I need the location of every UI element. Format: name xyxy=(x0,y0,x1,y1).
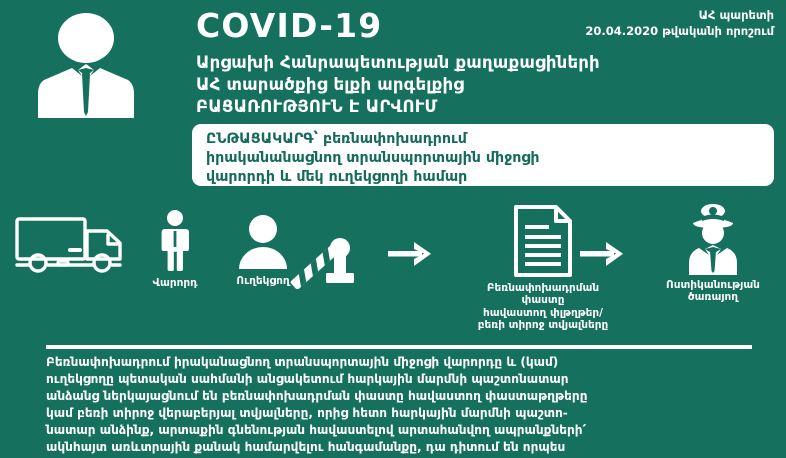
decree-date: ԱՀ պարետի 20.04.2020 թվականի որոշում xyxy=(585,8,774,39)
person-bust-icon xyxy=(235,213,291,269)
businessman-avatar-icon xyxy=(22,8,150,118)
document-label-line-1: Բեռնափոխադրման xyxy=(440,282,646,294)
process-flow-row: Վարորդ Ուղեկցող xyxy=(0,195,786,340)
footer-line-2: ուղեկցողը պետական սահմանի անցակետում հար… xyxy=(46,371,758,388)
police-label-line-1: Ոստիկանության xyxy=(640,279,786,291)
driver-flow-item: Վարորդ xyxy=(140,209,210,289)
footer-line-4: կամ բեռի տիրոջ վերաբերյալ տվյալները, որի… xyxy=(46,405,758,422)
decree-date-line1: ԱՀ պարետի xyxy=(585,8,774,24)
document-label-line-2: փաստը xyxy=(440,294,646,306)
infographic-poster: COVID-19 ԱՀ պարետի 20.04.2020 թվականի որ… xyxy=(0,0,786,458)
headline-line-2: ԱՀ տարածքից ելքի արգելքից xyxy=(196,74,776,96)
horizontal-divider xyxy=(46,345,752,349)
document-label-line-3: հավաստող փլթղթեր/ xyxy=(440,307,646,319)
footer-paragraph: Բեռնափոխադրում իրականացնող տրանսպորտային… xyxy=(46,354,758,458)
callout-line-3: վարորդի և մեկ ուղեկցողի համար xyxy=(206,168,760,187)
footer-line-5: նատար անձինք, արտաքին գնենության հավաստե… xyxy=(46,422,758,439)
header-section: COVID-19 ԱՀ պարետի 20.04.2020 թվականի որ… xyxy=(0,0,786,118)
boom-barrier-icon xyxy=(288,197,362,289)
police-officer-icon xyxy=(677,203,749,275)
decree-date-line2: 20.04.2020 թվականի որոշում xyxy=(585,24,774,40)
flow-arrow-2 xyxy=(580,241,624,267)
police-flow-item: Ոստիկանության ծառայող xyxy=(640,203,786,304)
arrow-right-icon xyxy=(388,241,432,267)
headline: Արցախի Հանրապետության քաղաքացիների ԱՀ տա… xyxy=(196,52,776,117)
document-icon xyxy=(512,205,574,277)
document-label-line-4: բեռի տիրոջ տվյալները xyxy=(440,319,646,331)
page-title: COVID-19 xyxy=(196,6,382,45)
footer-line-6: ակնհայտ առևտրային քանակ համարվելու հանգա… xyxy=(46,439,758,456)
callout-line-1: ԸՆԹԱՑԱԿԱՐԳ՝ բեռնափոխադրում xyxy=(206,130,760,149)
footer-line-1: Բեռնափոխադրում իրականացնող տրանսպորտային… xyxy=(46,354,758,371)
callout-line-2: իրականանացնող տրանսպորտային միջոցի xyxy=(206,149,760,168)
police-label: Ոստիկանության ծառայող xyxy=(640,279,786,304)
headline-line-3: ԲԱՑԱՌՈՒԹՅՈՒՆ Է ԱՐՎՈՒՄ xyxy=(196,96,776,118)
flow-arrow-1 xyxy=(388,241,432,267)
person-standing-icon xyxy=(158,209,192,271)
truck-icon xyxy=(14,213,132,277)
footer-line-3: անձանց ներկայացնում են բեռնափոխադրման փա… xyxy=(46,388,758,405)
arrow-right-icon xyxy=(580,241,624,267)
gate-flow-item xyxy=(288,197,362,289)
document-label: Բեռնափոխադրման փաստը հավաստող փլթղթեր/ բ… xyxy=(440,282,646,332)
headline-line-1: Արցախի Հանրապետության քաղաքացիների xyxy=(196,52,776,74)
driver-label: Վարորդ xyxy=(140,277,210,289)
police-label-line-2: ծառայող xyxy=(640,291,786,303)
document-flow-item: Բեռնափոխադրման փաստը հավաստող փլթղթեր/ բ… xyxy=(440,205,646,332)
truck-flow-item xyxy=(14,213,132,277)
procedure-callout-box: ԸՆԹԱՑԱԿԱՐԳ՝ բեռնափոխադրում իրականանացնող… xyxy=(192,124,774,186)
